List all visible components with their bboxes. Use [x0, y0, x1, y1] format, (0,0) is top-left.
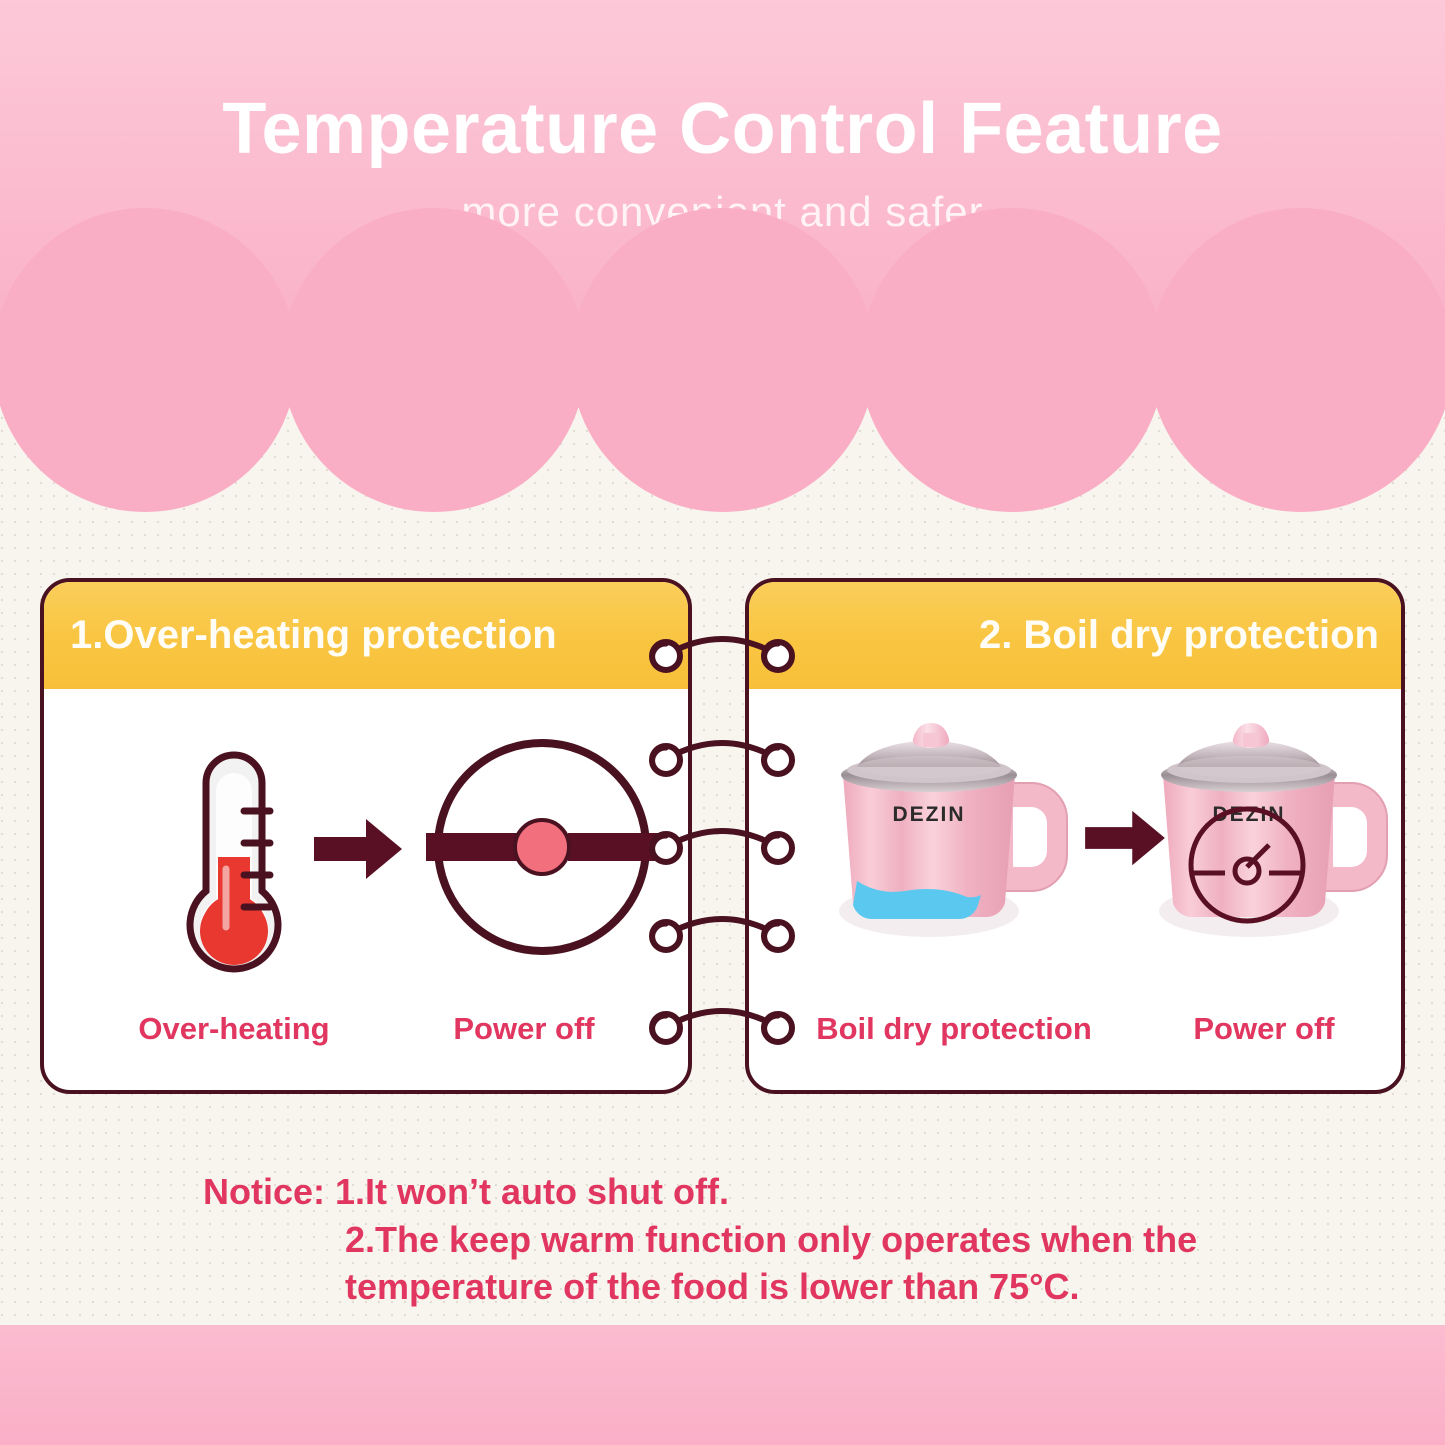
power-off-switch-icon [426, 731, 658, 963]
card-left-header: 1.Over-heating protection [44, 582, 688, 689]
caption-boil-dry-protection: Boil dry protection [759, 1011, 1149, 1047]
caption-power-off-right: Power off [1129, 1011, 1399, 1047]
scallop-arc [1149, 208, 1445, 512]
notice-line-3: temperature of the food is lower than 75… [0, 1263, 1445, 1311]
pot-brand-label: DEZIN [893, 803, 966, 826]
scallop-arc [0, 208, 297, 512]
right-arrow-icon [312, 817, 404, 881]
card-right-header: 2. Boil dry protection [749, 582, 1401, 689]
spiral-binding [640, 578, 805, 1094]
card-boil-dry-protection: 2. Boil dry protection [745, 578, 1405, 1094]
footer-band [0, 1325, 1445, 1445]
notice-line-2: 2.The keep warm function only operates w… [0, 1216, 1445, 1264]
scallop-arc [571, 208, 875, 512]
infographic-canvas: Temperature Control Feature more conveni… [0, 0, 1445, 1445]
electric-pot-power-off-icon: DEZIN [1147, 715, 1397, 951]
card-left-body: Over-heating Power off [44, 689, 688, 1094]
thermometer-icon [154, 739, 304, 979]
card-right-body: DEZIN [749, 689, 1401, 1094]
caption-power-off-left: Power off [374, 1011, 674, 1047]
card-over-heating-protection: 1.Over-heating protection [40, 578, 692, 1094]
electric-pot-heating-icon: DEZIN [827, 715, 1077, 951]
notice-line-1: Notice: 1.It won’t auto shut off. [0, 1168, 1445, 1216]
scallop-arc [860, 208, 1164, 512]
page-title: Temperature Control Feature [0, 92, 1445, 168]
card-left-header-label: 1.Over-heating protection [44, 613, 688, 658]
notice-block: Notice: 1.It won’t auto shut off. 2.The … [0, 1168, 1445, 1311]
scallop-arc [282, 208, 586, 512]
caption-over-heating: Over-heating [54, 1011, 414, 1047]
card-right-header-label: 2. Boil dry protection [749, 613, 1401, 658]
